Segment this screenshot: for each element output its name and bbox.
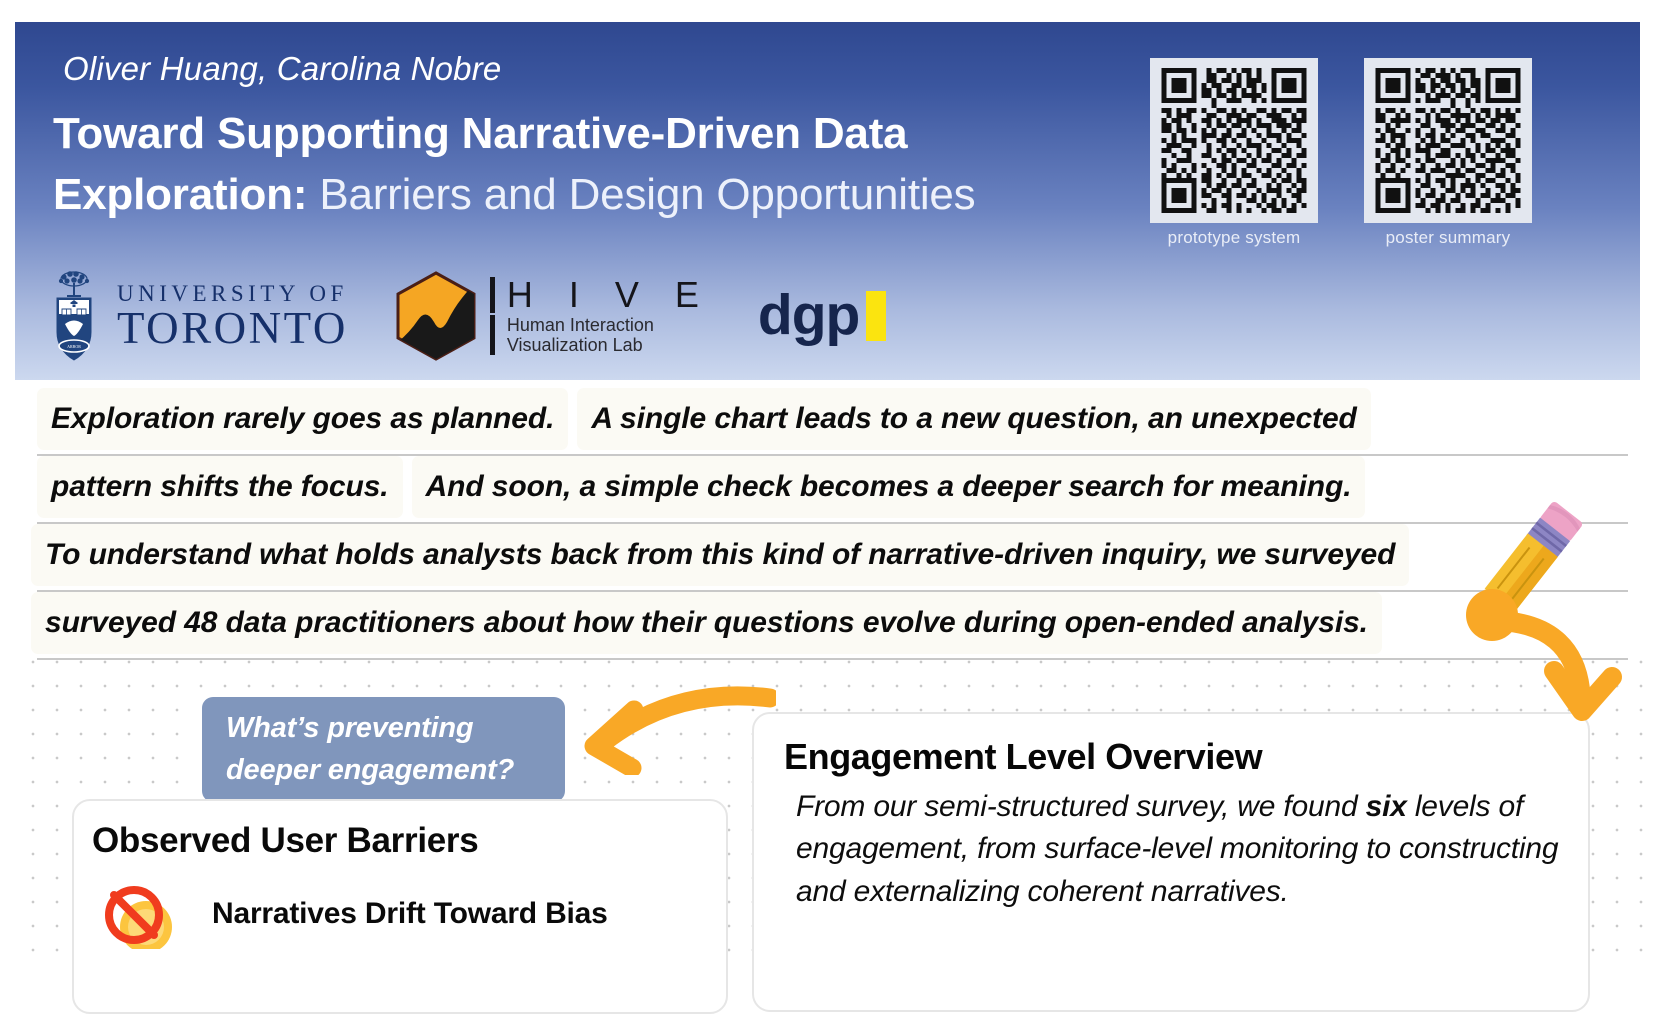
qr-item-poster[interactable]: poster summary xyxy=(1364,58,1532,248)
qr-code-prototype[interactable] xyxy=(1150,58,1318,223)
title-line-2: Exploration: Barriers and Design Opportu… xyxy=(53,165,1113,226)
uoft-wordmark: UNIVERSITY OF TORONTO xyxy=(117,282,348,351)
narrative-intro-block: Exploration rarely goes as planned. A si… xyxy=(15,388,1640,660)
uoft-line-1: UNIVERSITY OF xyxy=(117,282,348,305)
title-line-1: Toward Supporting Narrative-Driven Data xyxy=(53,104,1113,165)
authors-line: Oliver Huang, Carolina Nobre xyxy=(63,50,501,88)
card-observed-user-barriers: Observed User Barriers Narratives Drift … xyxy=(72,799,728,1014)
arrow-left-icon xyxy=(556,680,776,775)
narrative-row: surveyed 48 data practitioners about how… xyxy=(15,592,1640,660)
callout-question: What’s preventing deeper engagement? xyxy=(202,697,565,802)
dgp-word: dgp xyxy=(758,290,859,341)
logo-dgp: dgp xyxy=(758,290,886,341)
narrative-chunk: A single chart leads to a new question, … xyxy=(577,388,1370,450)
qr-poster-icon xyxy=(1374,68,1522,213)
logo-hive: H I V E Human Interaction Visualization … xyxy=(392,270,712,362)
narrative-row: Exploration rarely goes as planned. A si… xyxy=(15,388,1640,456)
logo-university-of-toronto: ARBOR UNIVERSITY OF TORONTO xyxy=(45,268,348,364)
logo-row: ARBOR UNIVERSITY OF TORONTO H I V E xyxy=(45,268,886,364)
narrative-row: pattern shifts the focus. And soon, a si… xyxy=(15,456,1640,524)
hive-subtitle: Human Interaction Visualization Lab xyxy=(490,315,712,355)
barrier-label: Narratives Drift Toward Bias xyxy=(212,897,608,931)
barriers-card-title: Observed User Barriers xyxy=(92,821,478,861)
narrative-chunk: surveyed 48 data practitioners about how… xyxy=(31,592,1382,654)
hive-subtitle-line-1: Human Interaction xyxy=(507,315,712,335)
arrow-down-right-icon xyxy=(1462,585,1652,725)
dgp-accent-bar xyxy=(866,291,886,341)
qr-caption-poster: poster summary xyxy=(1386,228,1511,248)
qr-code-poster[interactable] xyxy=(1364,58,1532,223)
engagement-body-emphasis: six xyxy=(1366,790,1407,823)
qr-code-group: prototype system xyxy=(1150,58,1532,248)
narrative-chunk: To understand what holds analysts back f… xyxy=(31,524,1409,586)
hive-wordmark: H I V E Human Interaction Visualization … xyxy=(490,277,712,355)
title-line-2-strong: Exploration: xyxy=(53,170,307,219)
hive-subtitle-line-2: Visualization Lab xyxy=(507,335,712,355)
narrative-chunk: Exploration rarely goes as planned. xyxy=(37,388,568,450)
hive-word: H I V E xyxy=(490,277,712,313)
svg-text:ARBOR: ARBOR xyxy=(67,344,81,349)
title-line-2-sub: Barriers and Design Opportunities xyxy=(319,170,975,219)
card-engagement-level-overview: Engagement Level Overview From our semi-… xyxy=(752,712,1590,1012)
qr-prototype-icon xyxy=(1160,68,1308,213)
poster-title: Toward Supporting Narrative-Driven Data … xyxy=(53,104,1113,225)
uoft-crest-icon: ARBOR xyxy=(45,268,103,364)
no-entry-icon xyxy=(94,879,190,949)
narrative-chunk: And soon, a simple check becomes a deepe… xyxy=(412,456,1366,518)
callout-line-1: What’s preventing xyxy=(226,708,541,749)
poster-root: Oliver Huang, Carolina Nobre Toward Supp… xyxy=(0,0,1655,970)
hive-hexagon-icon xyxy=(392,270,480,362)
qr-item-prototype[interactable]: prototype system xyxy=(1150,58,1318,248)
poster-header: Oliver Huang, Carolina Nobre Toward Supp… xyxy=(15,22,1640,380)
uoft-line-2: TORONTO xyxy=(117,306,348,351)
callout-line-2: deeper engagement? xyxy=(226,750,541,791)
narrative-row: To understand what holds analysts back f… xyxy=(15,524,1640,592)
engagement-body-pre: From our semi-structured survey, we foun… xyxy=(796,790,1366,823)
barrier-list-item: Narratives Drift Toward Bias xyxy=(94,879,608,949)
narrative-chunk: pattern shifts the focus. xyxy=(37,456,403,518)
engagement-card-body: From our semi-structured survey, we foun… xyxy=(784,786,1562,913)
qr-caption-prototype: prototype system xyxy=(1168,228,1301,248)
engagement-card-title: Engagement Level Overview xyxy=(784,736,1562,778)
